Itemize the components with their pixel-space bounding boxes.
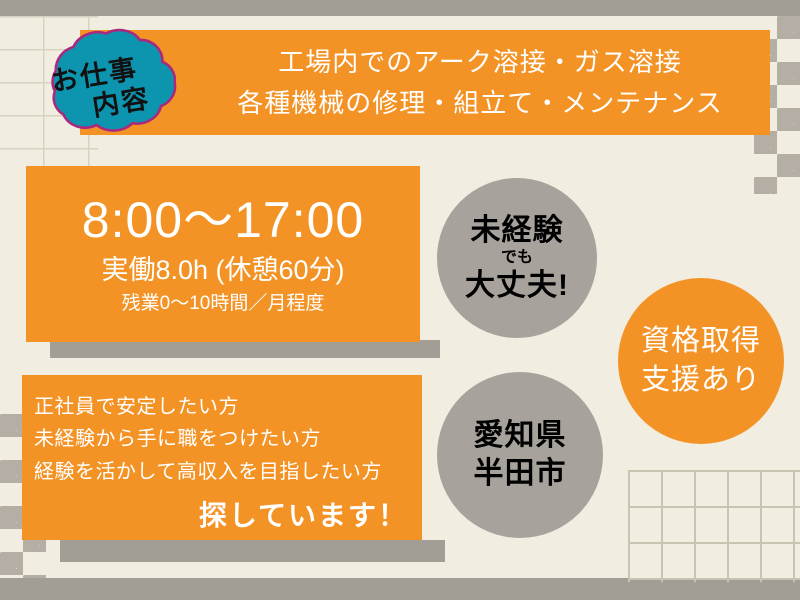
experience-line-1: 未経験 — [471, 214, 564, 247]
working-hours-block: 8:00〜17:00 実働8.0h (休憩60分) 残業0〜10時間／月程度 — [26, 166, 420, 342]
overtime-note: 残業0〜10時間／月程度 — [122, 292, 325, 316]
requirement-line: 正社員で安定したい方 — [34, 391, 422, 423]
requirements-block: 正社員で安定したい方 未経験から手に職をつけたい方 経験を活かして高収入を目指し… — [22, 375, 422, 540]
badge-circle-certification: 資格取得 支援あり — [618, 278, 784, 444]
location-line-1: 愛知県 — [474, 417, 567, 455]
requirement-line: 未経験から手に職をつけたい方 — [34, 423, 422, 455]
location-line-2: 半田市 — [474, 455, 567, 493]
working-hours-main: 8:00〜17:00 — [82, 193, 364, 248]
working-hours-sub: 実働8.0h (休憩60分) — [101, 254, 344, 288]
top-gray-bar — [0, 0, 800, 16]
hours-block-shadow — [50, 340, 440, 358]
experience-line-3: 大丈夫! — [465, 269, 569, 302]
experience-line-2: でも — [501, 248, 533, 269]
grid-pattern-bottom-right — [628, 470, 800, 582]
requirement-line: 経験を活かして高収入を目指したい方 — [34, 456, 422, 488]
cloud-badge-text: お仕事 内容 — [9, 13, 199, 166]
badge-circle-experience: 未経験 でも 大丈夫! — [437, 178, 597, 338]
badge-circle-location: 愛知県 半田市 — [437, 372, 603, 538]
certification-line-1: 資格取得 — [641, 322, 761, 361]
job-content-cloud-badge: お仕事 内容 — [18, 26, 190, 154]
requirements-cta: 探しています！ — [34, 494, 422, 534]
requirements-block-shadow — [60, 540, 445, 562]
certification-line-2: 支援あり — [641, 361, 761, 400]
job-description-line-2: 各種機械の修理・組立て・メンテナンス — [127, 83, 722, 123]
job-description-line-1: 工場内でのアーク溶接・ガス溶接 — [168, 42, 681, 82]
job-advertisement-poster: 工場内でのアーク溶接・ガス溶接 各種機械の修理・組立て・メンテナンス お仕事 内… — [0, 0, 800, 600]
